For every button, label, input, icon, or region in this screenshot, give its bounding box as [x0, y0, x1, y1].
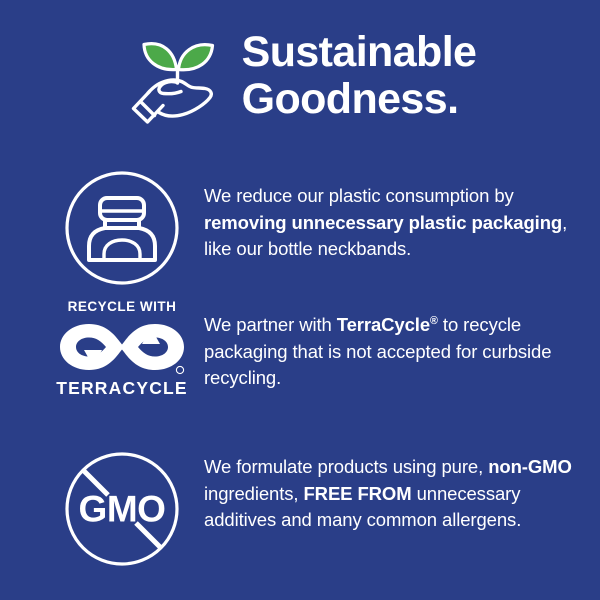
benefit-row-terracycle-text: We partner with TerraCycle® to recycle p… [192, 293, 586, 392]
sustainable-goodness-panel: Sustainable Goodness. [0, 0, 600, 600]
terracycle-logo: RECYCLE WITH [52, 299, 192, 398]
bottle-neckband-circle-icon [64, 170, 180, 286]
page-title-line-1: Sustainable [242, 29, 477, 76]
benefit-row-terracycle: RECYCLE WITH [0, 293, 600, 439]
hand-holding-sprout-icon [124, 26, 228, 126]
text-seg-4: FREE FROM [303, 483, 411, 504]
header: Sustainable Goodness. [0, 26, 600, 126]
text-seg-3: ingredients, [204, 483, 303, 504]
benefit-row-gmo-text: We formulate products using pure, non-GM… [192, 439, 586, 534]
benefit-row-gmo-icon: GMO [52, 439, 192, 567]
benefit-row-terracycle-icon: RECYCLE WITH [52, 293, 192, 398]
registered-trademark-mark: ® [430, 315, 438, 327]
text-seg-2: removing unnecessary plastic packaging [204, 212, 562, 233]
text-seg-1: We partner with [204, 314, 337, 335]
gmo-label: GMO [79, 489, 166, 530]
infinity-recycle-arrows-icon [58, 319, 186, 375]
benefit-row-plastic-text: We reduce our plastic consumption by rem… [192, 160, 586, 263]
text-seg-1: We formulate products using pure, [204, 456, 488, 477]
no-gmo-circle-icon: GMO [64, 451, 180, 567]
text-seg-2: TerraCycle [337, 314, 430, 335]
text-seg-2: non-GMO [488, 456, 572, 477]
page-title-line-2: Goodness. [242, 76, 477, 123]
text-seg-1: We reduce our plastic consumption by [204, 185, 514, 206]
header-titles: Sustainable Goodness. [242, 29, 477, 123]
benefit-row-plastic: We reduce our plastic consumption by rem… [0, 160, 600, 293]
terracycle-logo-top-label: RECYCLE WITH [68, 299, 177, 315]
terracycle-logo-bottom-label: TERRACYCLE [56, 378, 188, 398]
benefit-row-plastic-icon [52, 160, 192, 286]
benefit-row-gmo: GMO We formulate products using pure, no… [0, 439, 600, 589]
benefit-rows: We reduce our plastic consumption by rem… [0, 160, 600, 589]
